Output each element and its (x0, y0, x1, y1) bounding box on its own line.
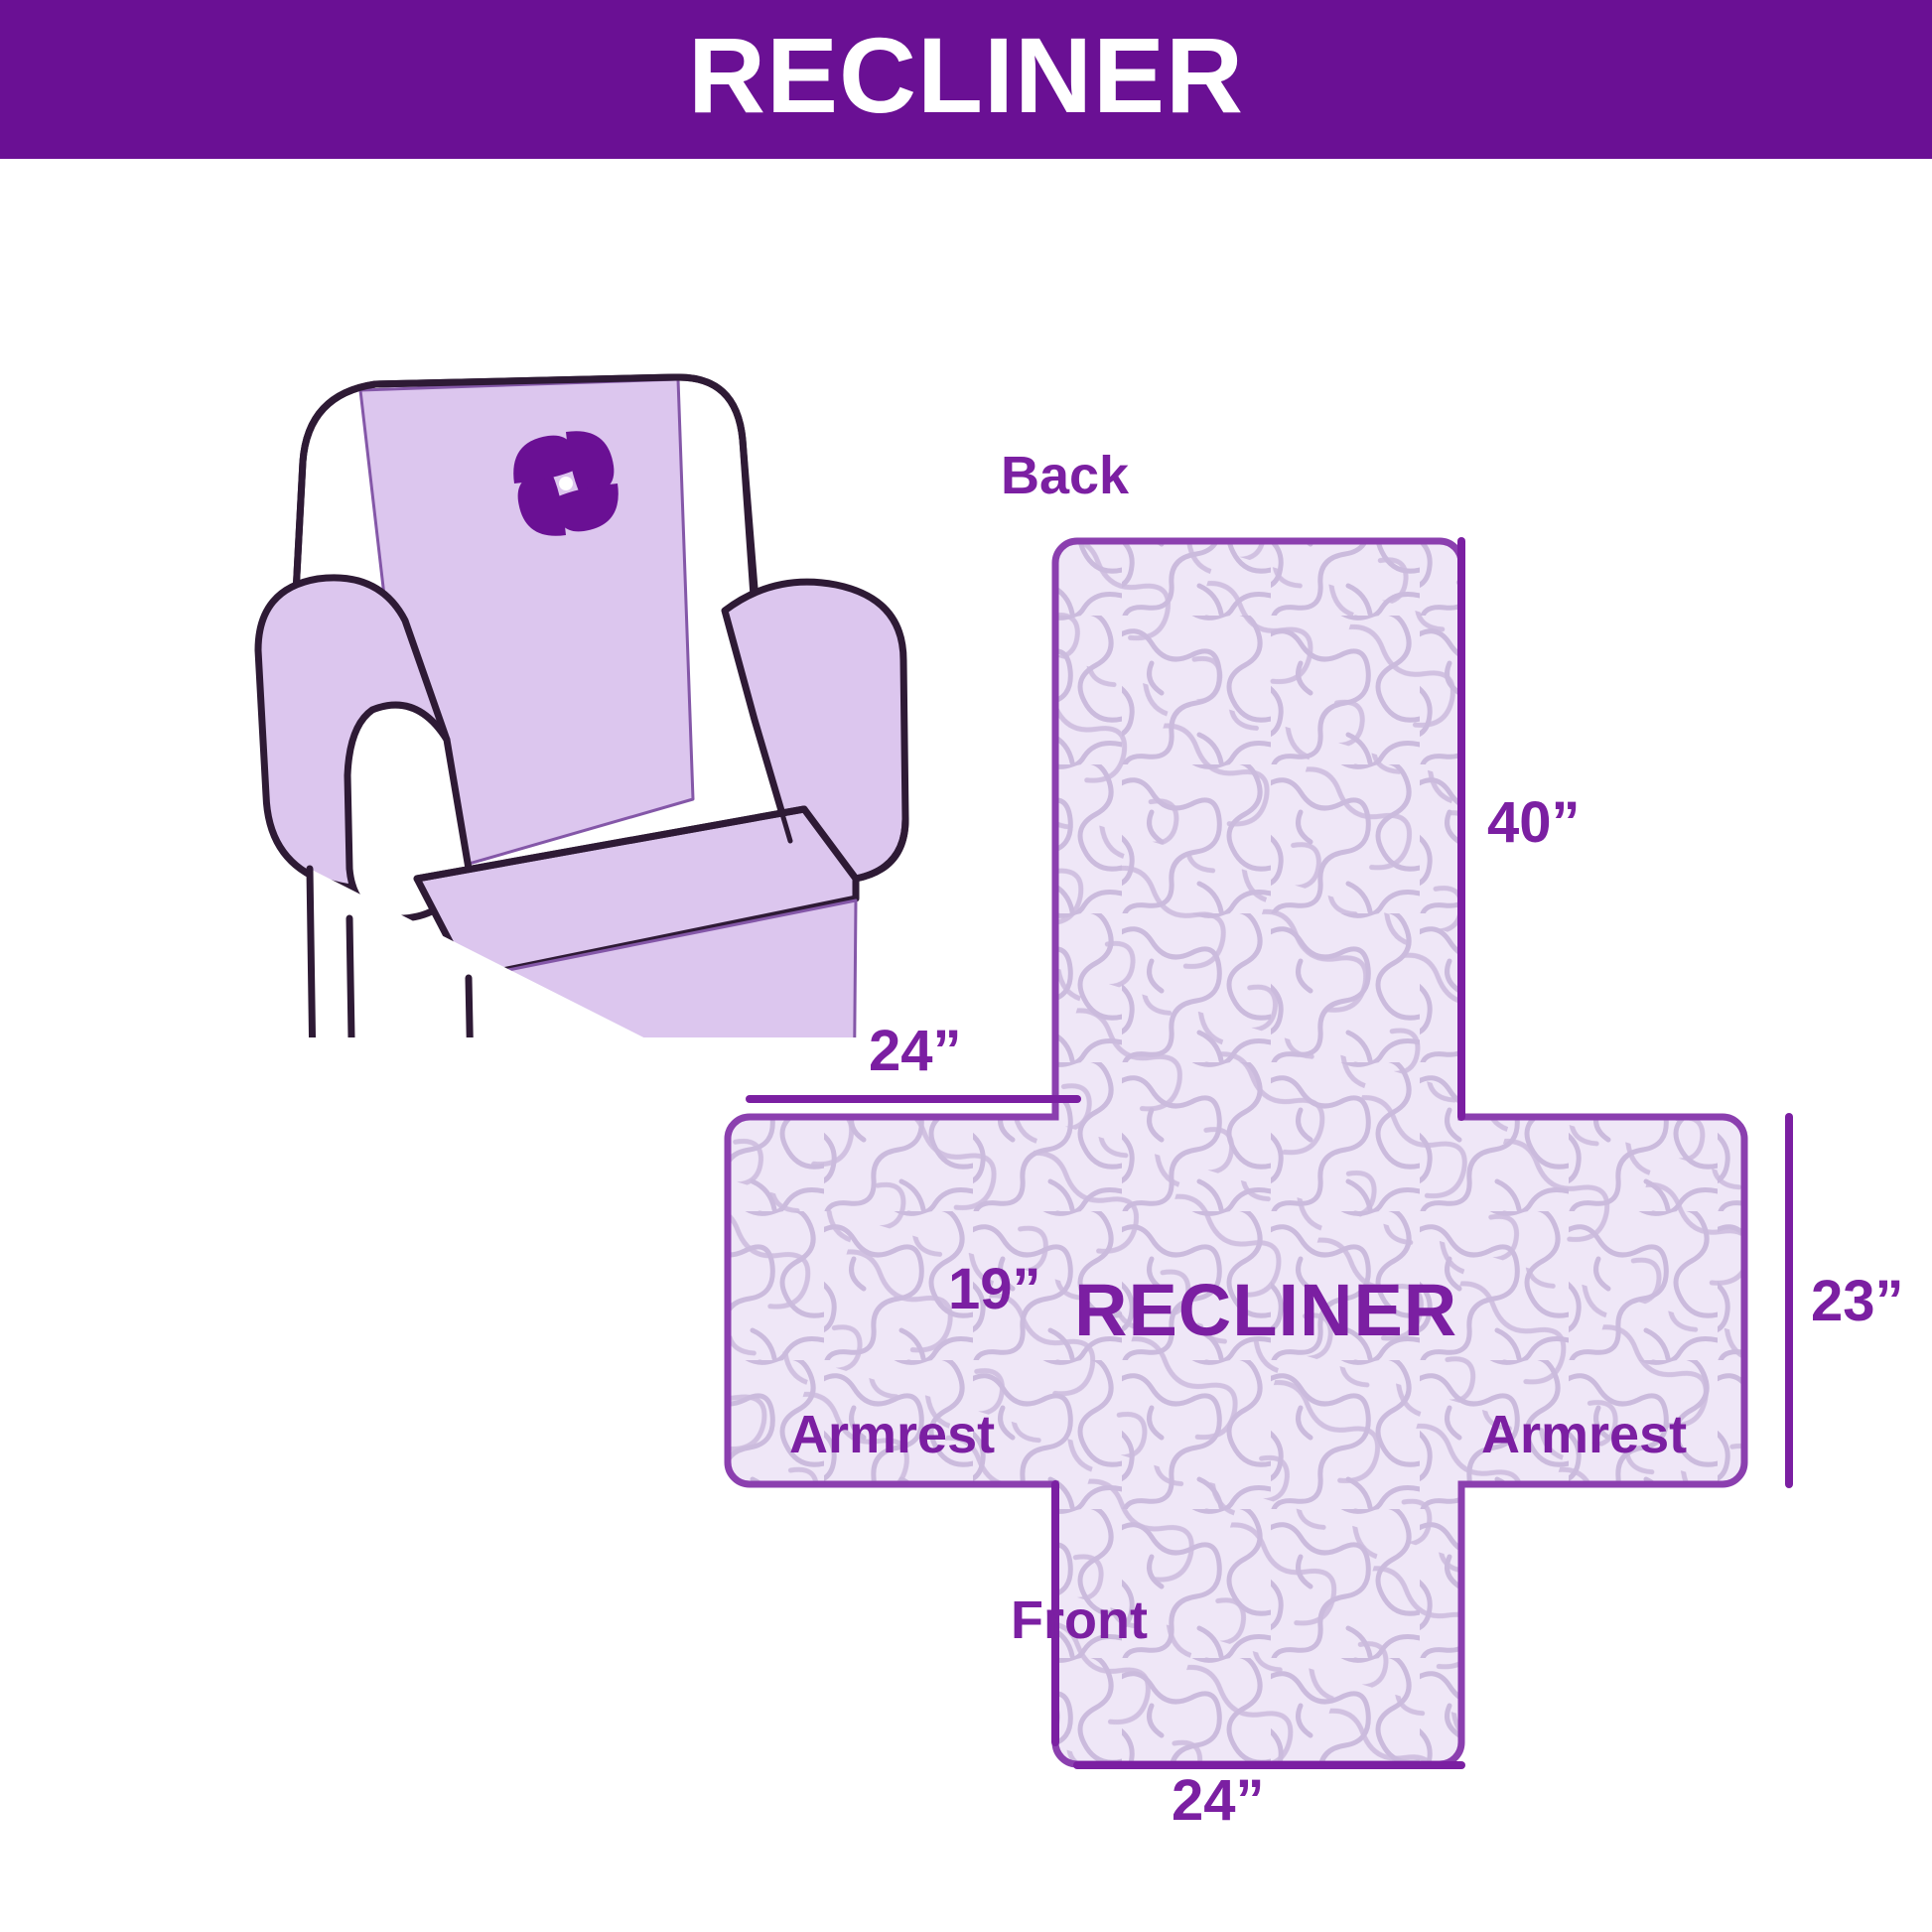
recliner-cover-flat-diagram (675, 467, 1932, 1876)
page-header: RECLINER (0, 0, 1932, 159)
dimension-label-front-width: 24” (1172, 1772, 1265, 1830)
diagram-center-label: RECLINER (1074, 1274, 1457, 1347)
dimension-label-armrest-width: 24” (869, 1023, 962, 1080)
dimension-label-back-height: 40” (1487, 794, 1581, 852)
fan-icon (513, 431, 619, 536)
panel-label-front: Front (1011, 1593, 1148, 1647)
page-title: RECLINER (688, 22, 1244, 129)
panel-label-armrest-left: Armrest (789, 1408, 995, 1461)
cover-cross-shape (675, 467, 1932, 1876)
dimension-label-center-height: 23” (1811, 1273, 1904, 1330)
dimension-label-front-height: 19” (948, 1261, 1041, 1318)
panel-label-armrest-right: Armrest (1481, 1408, 1687, 1461)
panel-label-back: Back (1001, 449, 1129, 502)
